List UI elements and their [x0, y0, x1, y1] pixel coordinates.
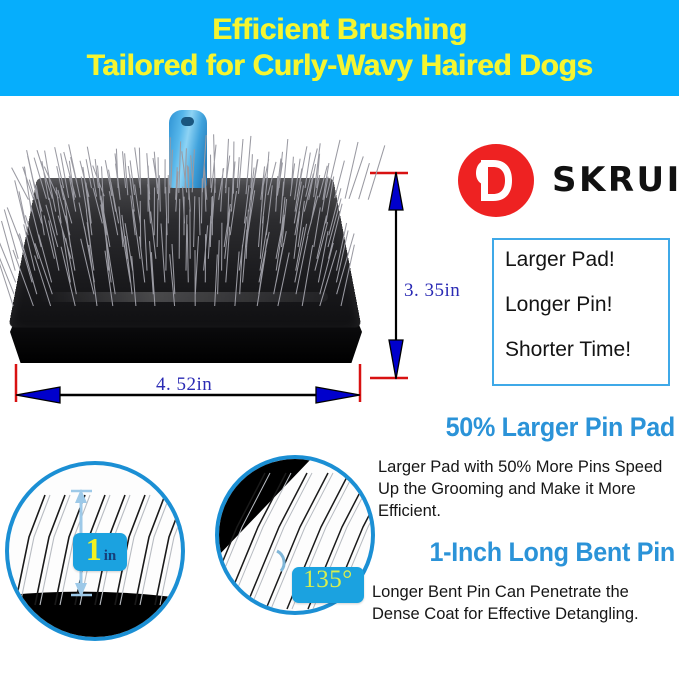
feature-2-heading: 1-Inch Long Bent Pin	[401, 537, 675, 568]
brush-base-highlight	[38, 292, 328, 302]
header-banner: Efficient Brushing Tailored for Curly-Wa…	[0, 0, 679, 96]
pin-angle-value: 135°	[303, 567, 353, 592]
brush-handle	[169, 110, 207, 188]
dimension-width: 4. 52in	[8, 358, 390, 420]
dimension-height-label: 3. 35in	[404, 280, 460, 302]
pin-length-value: 1	[86, 533, 102, 565]
brand-name: SKRUI	[552, 160, 679, 200]
skrui-d-monogram-icon	[458, 144, 534, 217]
brand-logo: SKRUI	[458, 142, 679, 218]
feature-1-body: Larger Pad with 50% More Pins Speed Up t…	[378, 456, 678, 522]
dimension-width-label: 4. 52in	[156, 374, 212, 396]
brush-pin-pad	[8, 178, 361, 328]
pin-length-badge: 1 in	[73, 533, 127, 571]
feature-2-body: Longer Bent Pin Can Penetrate the Dense …	[372, 581, 678, 625]
feature-highlight-box: Larger Pad! Longer Pin! Shorter Time!	[492, 238, 670, 386]
pin-angle-badge: 135°	[292, 567, 364, 603]
product-photo-slicker-brush	[0, 96, 400, 386]
logo-d-glyph	[475, 157, 515, 204]
header-title-line-1: Efficient Brushing	[212, 14, 467, 46]
pin-length-unit: in	[104, 548, 117, 565]
feature-1-heading: 50% Larger Pin Pad	[401, 412, 675, 443]
feature-box-line-2: Longer Pin!	[505, 294, 668, 315]
feature-box-line-1: Larger Pad!	[505, 249, 668, 270]
feature-box-line-3: Shorter Time!	[505, 339, 668, 360]
header-title-line-2: Tailored for Curly-Wavy Haired Dogs	[86, 50, 592, 82]
